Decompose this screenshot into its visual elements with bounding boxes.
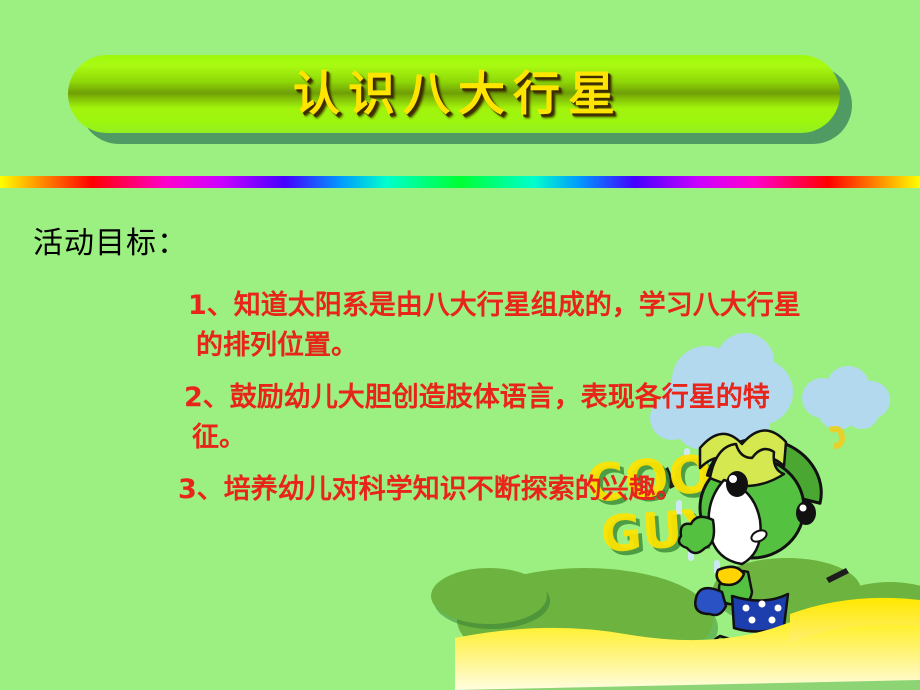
page-title: 认识八大行星 bbox=[285, 71, 623, 118]
title-banner-pill: 认识八大行星 bbox=[68, 55, 840, 133]
goal-item-2: 2、鼓励幼儿大胆创造肢体语言，表现各行星的特征。 bbox=[192, 378, 806, 458]
cloud-small bbox=[802, 366, 890, 430]
goals-list: 1、知道太阳系是由八大行星组成的，学习八大行星的排列位置。 2、鼓励幼儿大胆创造… bbox=[196, 286, 806, 522]
goal-item-1: 1、知道太阳系是由八大行星组成的，学习八大行星的排列位置。 bbox=[196, 286, 806, 366]
grass-mounds bbox=[431, 558, 920, 680]
bottom-ribbon bbox=[455, 598, 920, 690]
goal-item-3: 3、培养幼儿对科学知识不断探索的兴趣。 bbox=[186, 470, 806, 510]
goals-heading: 活动目标： bbox=[33, 218, 188, 262]
slide-canvas: COOL COOL GUY GUY bbox=[0, 0, 920, 690]
rainbow-divider bbox=[0, 176, 920, 188]
title-banner: 认识八大行星 bbox=[68, 55, 840, 133]
